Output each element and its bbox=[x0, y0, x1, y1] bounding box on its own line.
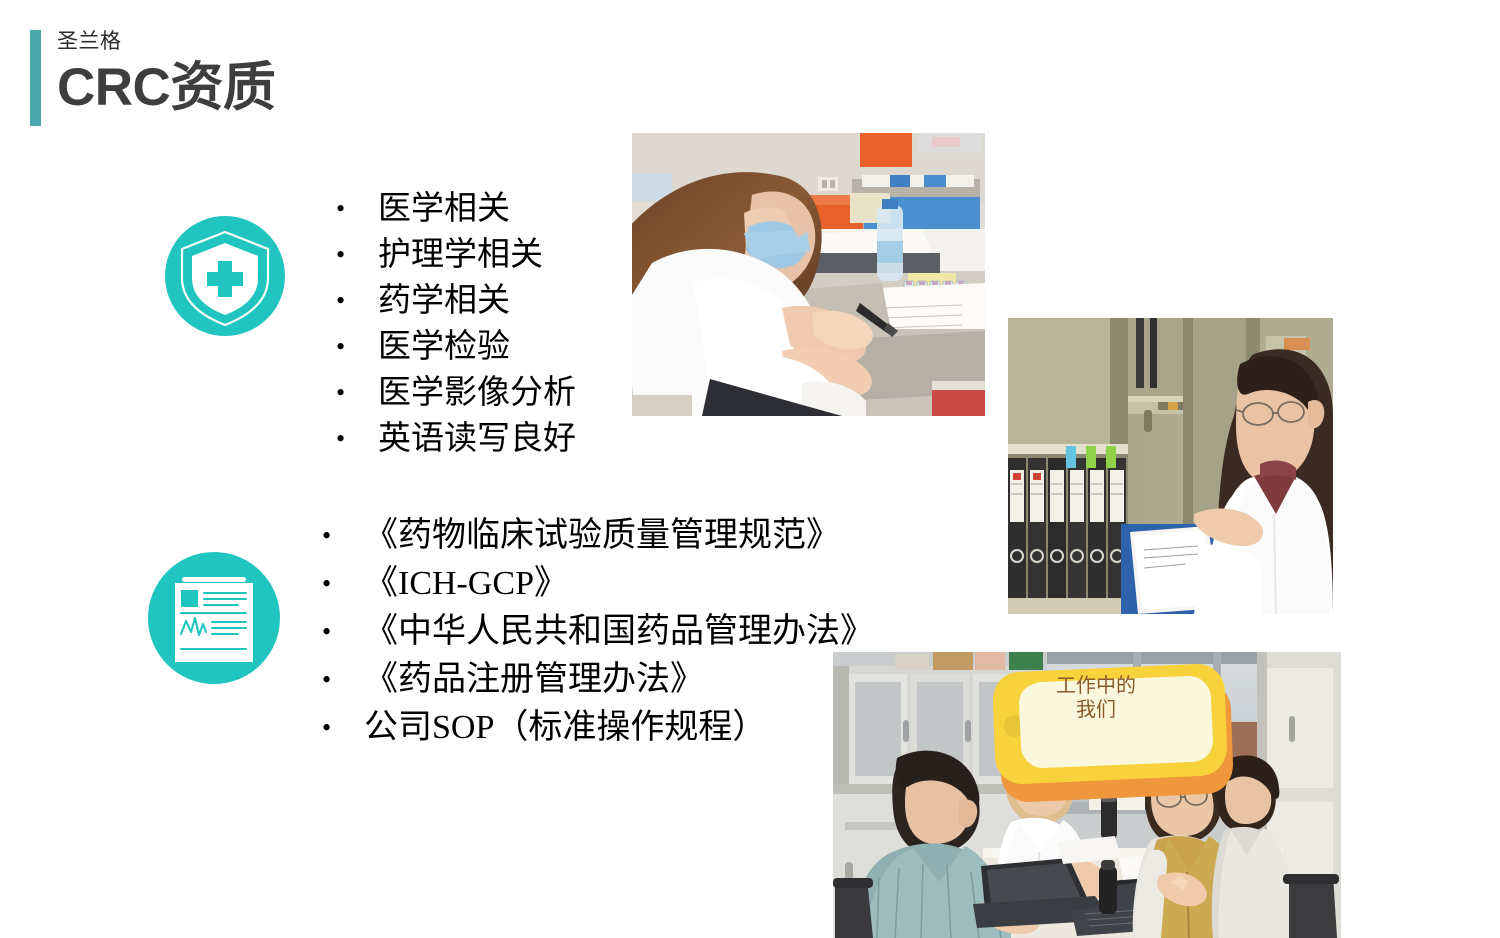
list-item: • 医学影像分析 bbox=[336, 370, 576, 416]
list-item: • 医学检验 bbox=[336, 324, 576, 370]
bullet-glyph: • bbox=[336, 416, 378, 462]
list-item-label: 医学相关 bbox=[378, 186, 510, 232]
bullet-glyph: • bbox=[322, 512, 364, 560]
list-item-label: 药学相关 bbox=[378, 278, 510, 324]
photo-crc-office-team: 工作中的 我们 bbox=[833, 652, 1341, 938]
list-item: • 《药物临床试验质量管理规范》 bbox=[322, 512, 874, 560]
header-text-group: 圣兰格 CRC资质 bbox=[57, 28, 275, 119]
bullet-glyph: • bbox=[336, 232, 378, 278]
list-item-label: 公司SOP（标准操作规程） bbox=[364, 704, 766, 752]
list-item-label: 护理学相关 bbox=[378, 232, 543, 278]
list-item-label: 《中华人民共和国药品管理办法》 bbox=[364, 608, 874, 656]
list-item: • 公司SOP（标准操作规程） bbox=[322, 704, 874, 752]
list-item-label: 《药物临床试验质量管理规范》 bbox=[364, 512, 840, 560]
bullet-glyph: • bbox=[336, 370, 378, 416]
photo-crc-archive-binders bbox=[1008, 318, 1333, 614]
slide-canvas: 圣兰格 CRC资质 • 医学相关 • 护理学相关 • 药学相关 • 医学检验 bbox=[0, 0, 1500, 938]
qualifications-list: • 医学相关 • 护理学相关 • 药学相关 • 医学检验 • 医学影像分析 • … bbox=[336, 186, 576, 462]
bullet-glyph: • bbox=[336, 278, 378, 324]
photo-tag-overlay bbox=[993, 664, 1233, 802]
regulations-list: • 《药物临床试验质量管理规范》 • 《ICH-GCP》 • 《中华人民共和国药… bbox=[322, 512, 874, 752]
list-item-label: 《ICH-GCP》 bbox=[364, 560, 568, 608]
list-item-label: 医学检验 bbox=[378, 324, 510, 370]
list-item: • 《中华人民共和国药品管理办法》 bbox=[322, 608, 874, 656]
list-item-label: 《药品注册管理办法》 bbox=[364, 656, 704, 704]
page-title: CRC资质 bbox=[57, 57, 275, 119]
list-item: • 护理学相关 bbox=[336, 232, 576, 278]
list-item: • 《药品注册管理办法》 bbox=[322, 656, 874, 704]
shield-medical-icon bbox=[165, 216, 285, 336]
list-item-label: 医学影像分析 bbox=[378, 370, 576, 416]
list-item: • 医学相关 bbox=[336, 186, 576, 232]
bullet-glyph: • bbox=[336, 186, 378, 232]
document-report-icon bbox=[148, 552, 280, 684]
list-item: • 药学相关 bbox=[336, 278, 576, 324]
bullet-glyph: • bbox=[322, 704, 364, 752]
brand-name: 圣兰格 bbox=[57, 28, 275, 56]
header-accent-bar bbox=[30, 30, 41, 126]
bullet-glyph: • bbox=[322, 656, 364, 704]
bullet-glyph: • bbox=[322, 560, 364, 608]
slide-header: 圣兰格 CRC资质 bbox=[30, 28, 550, 128]
bullet-glyph: • bbox=[322, 608, 364, 656]
bullet-glyph: • bbox=[336, 324, 378, 370]
photo-crc-writing-notes bbox=[632, 133, 985, 416]
list-item: • 《ICH-GCP》 bbox=[322, 560, 874, 608]
list-item: • 英语读写良好 bbox=[336, 416, 576, 462]
list-item-label: 英语读写良好 bbox=[378, 416, 576, 462]
